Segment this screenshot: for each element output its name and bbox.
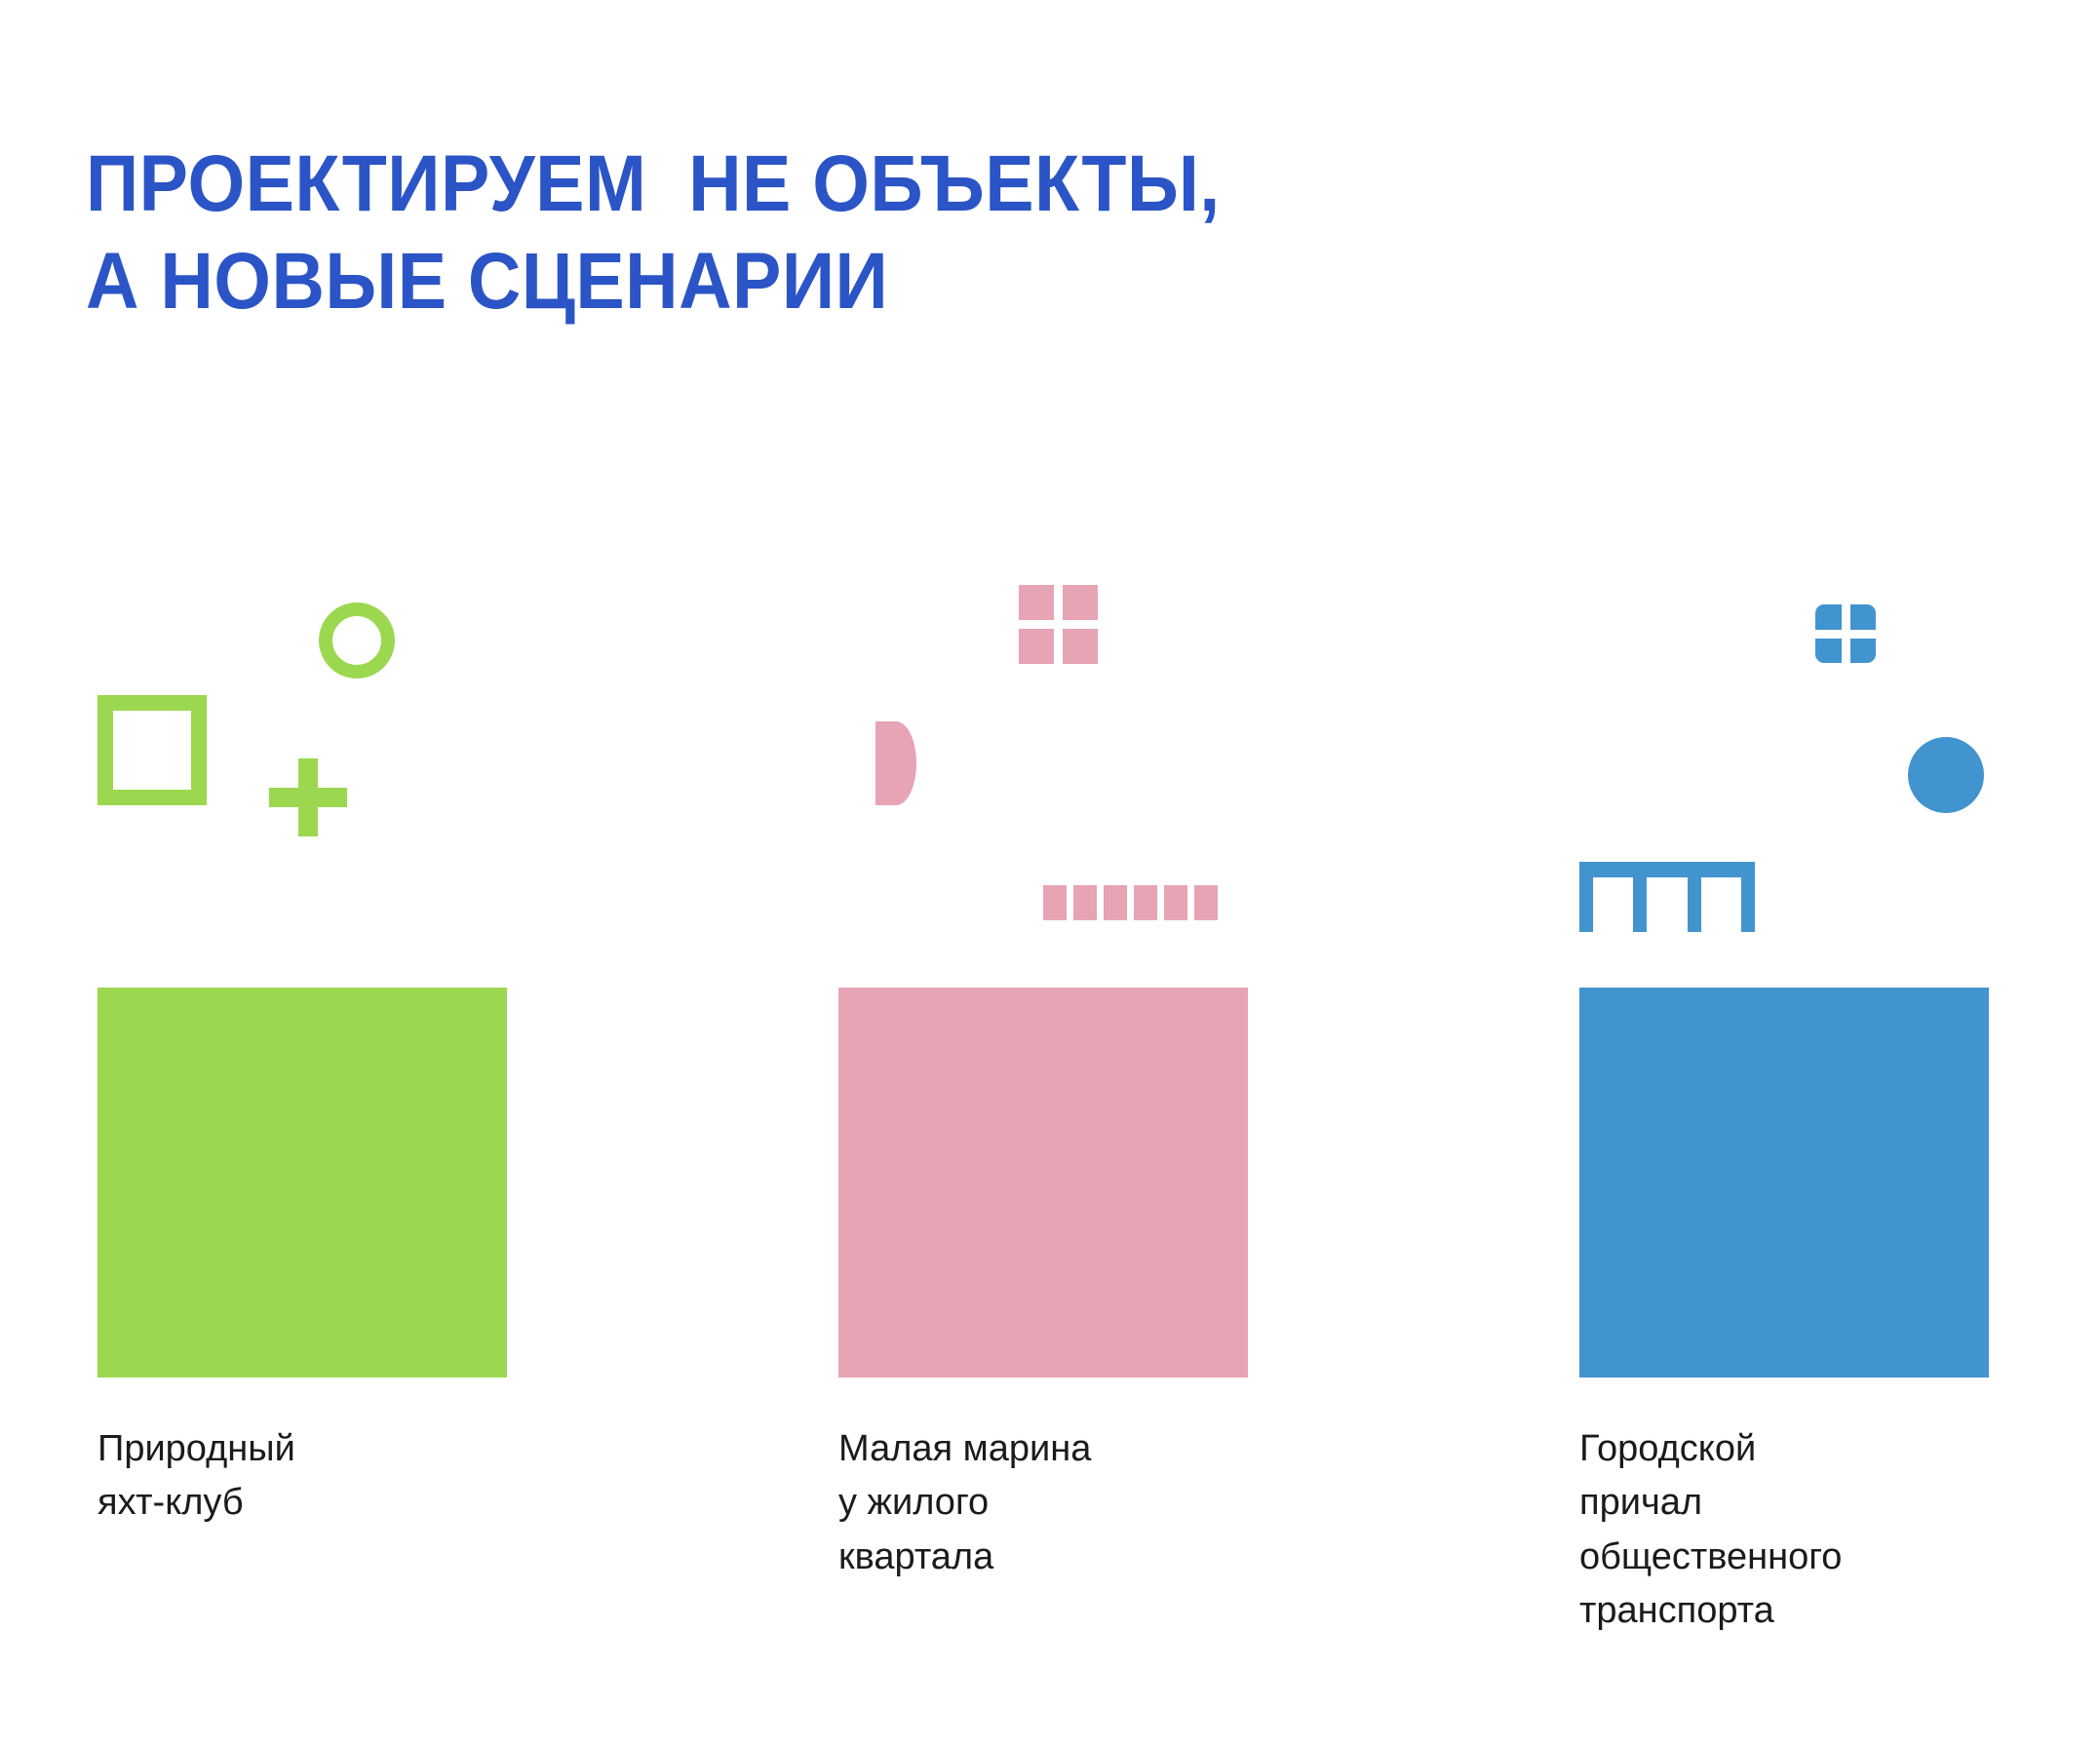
window-grid-rounded-icon <box>1815 604 1876 663</box>
dock-slat <box>1134 885 1157 920</box>
dock-slat <box>1073 885 1097 920</box>
color-block-blue <box>1579 988 1989 1378</box>
dock-slat <box>1164 885 1187 920</box>
scenario-column-2: Малая марина у жилого квартала <box>838 585 1326 1621</box>
scenario-column-1: Природный яхт-клуб <box>97 585 585 1568</box>
scenario-caption-1: Природный яхт-клуб <box>97 1422 517 1531</box>
pier-deck <box>1579 862 1755 877</box>
slide-root: ПРОЕКТИРУЕМ НЕ ОБЪЕКТЫ, А НОВЫЕ СЦЕНАРИИ… <box>0 0 2100 1747</box>
pier-leg <box>1741 877 1755 932</box>
plus-icon <box>269 758 347 836</box>
square-outline-icon <box>97 695 207 805</box>
dock-slat <box>1194 885 1218 920</box>
window-grid-cell <box>1019 629 1054 664</box>
window-grid-icon <box>1019 585 1098 664</box>
scenario-caption-3: Городской причал общественного транспорт… <box>1579 1422 2038 1639</box>
window-grid-cell <box>1850 639 1877 664</box>
circle-filled-icon <box>1908 737 1984 813</box>
scenario-column-3: Городской причал общественного транспорт… <box>1579 585 2067 1676</box>
pier-icon <box>1579 862 1755 932</box>
window-grid-cell <box>1850 604 1877 630</box>
dock-slat <box>1043 885 1067 920</box>
scenario-caption-2: Малая марина у жилого квартала <box>838 1422 1258 1584</box>
icon-stage-1 <box>97 585 556 988</box>
semicircle-icon <box>875 721 916 805</box>
window-grid-cell <box>1063 585 1098 620</box>
scenario-columns: Природный яхт-клуб <box>0 0 2100 1747</box>
circle-outline-icon <box>319 602 395 679</box>
icon-stage-3 <box>1579 585 2038 988</box>
pier-leg <box>1633 877 1647 932</box>
window-grid-cell <box>1063 629 1098 664</box>
dock-slats-icon <box>1043 885 1218 920</box>
window-grid-cell <box>1019 585 1054 620</box>
pier-leg <box>1579 877 1593 932</box>
icon-stage-2 <box>838 585 1297 988</box>
window-grid-cell <box>1815 604 1842 630</box>
window-grid-cell <box>1815 639 1842 664</box>
pier-leg <box>1688 877 1701 932</box>
color-block-green <box>97 988 507 1378</box>
dock-slat <box>1104 885 1127 920</box>
color-block-pink <box>838 988 1248 1378</box>
